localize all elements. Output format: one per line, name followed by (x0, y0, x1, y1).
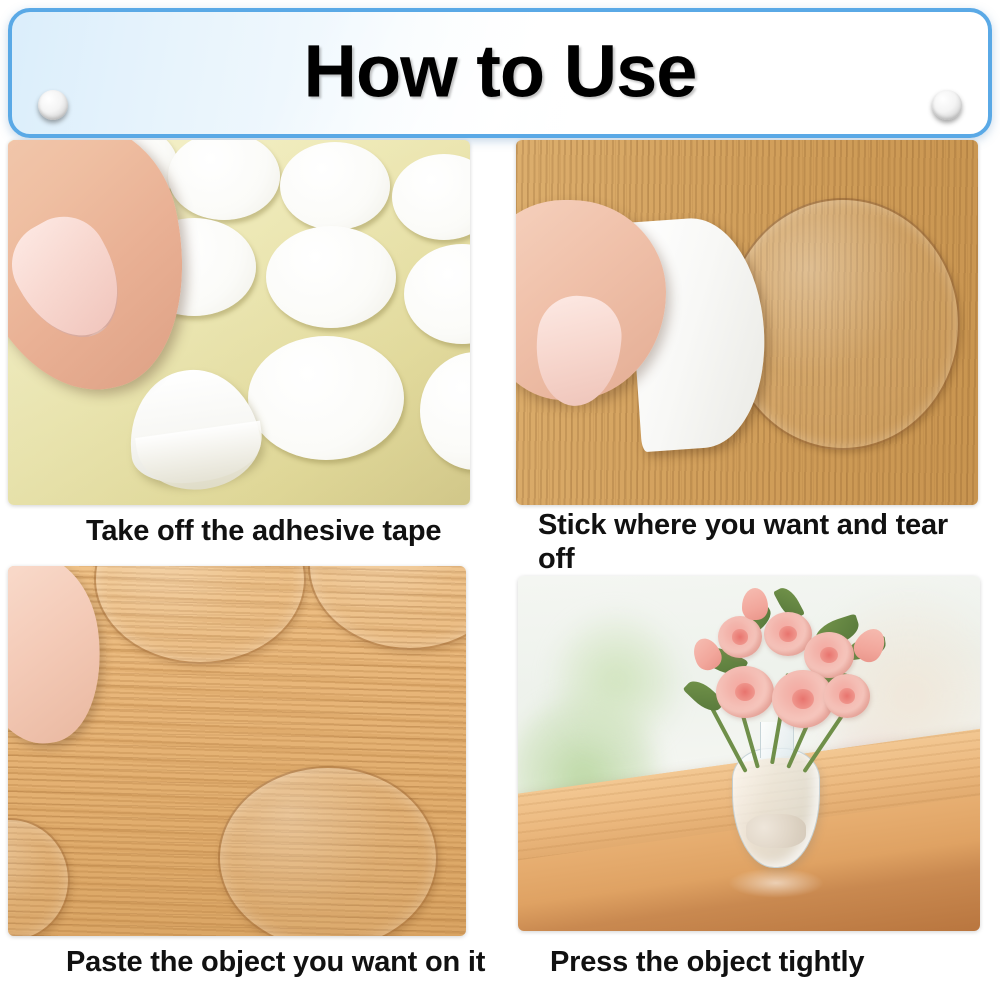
adhesive-dot (280, 142, 390, 230)
infographic-page: How to Use Take off the adhesive tape (0, 0, 1000, 987)
rose-bloom (824, 674, 870, 718)
step-4-caption: Press the object tightly (550, 945, 864, 979)
thumbnail (8, 201, 141, 356)
adhesive-dot (266, 226, 396, 328)
screw-left-icon (38, 90, 68, 120)
step-2-photo (516, 140, 978, 505)
step-2-caption-line-1: Stick where you want and tear off (538, 508, 988, 576)
rose-bloom (716, 666, 774, 718)
screw-right-icon (932, 90, 962, 120)
page-title: How to Use (12, 35, 988, 109)
step-3-photo (8, 566, 466, 936)
step-4-photo (518, 576, 980, 931)
step-3-caption: Paste the object you want on it (66, 945, 485, 979)
rose-bloom (718, 616, 762, 658)
adhesive-dot (248, 336, 404, 460)
clear-adhesive-dot (218, 766, 438, 936)
rose-bud (742, 588, 768, 620)
step-1-caption: Take off the adhesive tape (86, 514, 441, 548)
vase-pebbles (746, 814, 806, 848)
background-bokeh-green (556, 616, 676, 746)
step-1-photo (8, 140, 470, 505)
vase-reflection (728, 868, 824, 898)
header-banner: How to Use (8, 8, 992, 138)
